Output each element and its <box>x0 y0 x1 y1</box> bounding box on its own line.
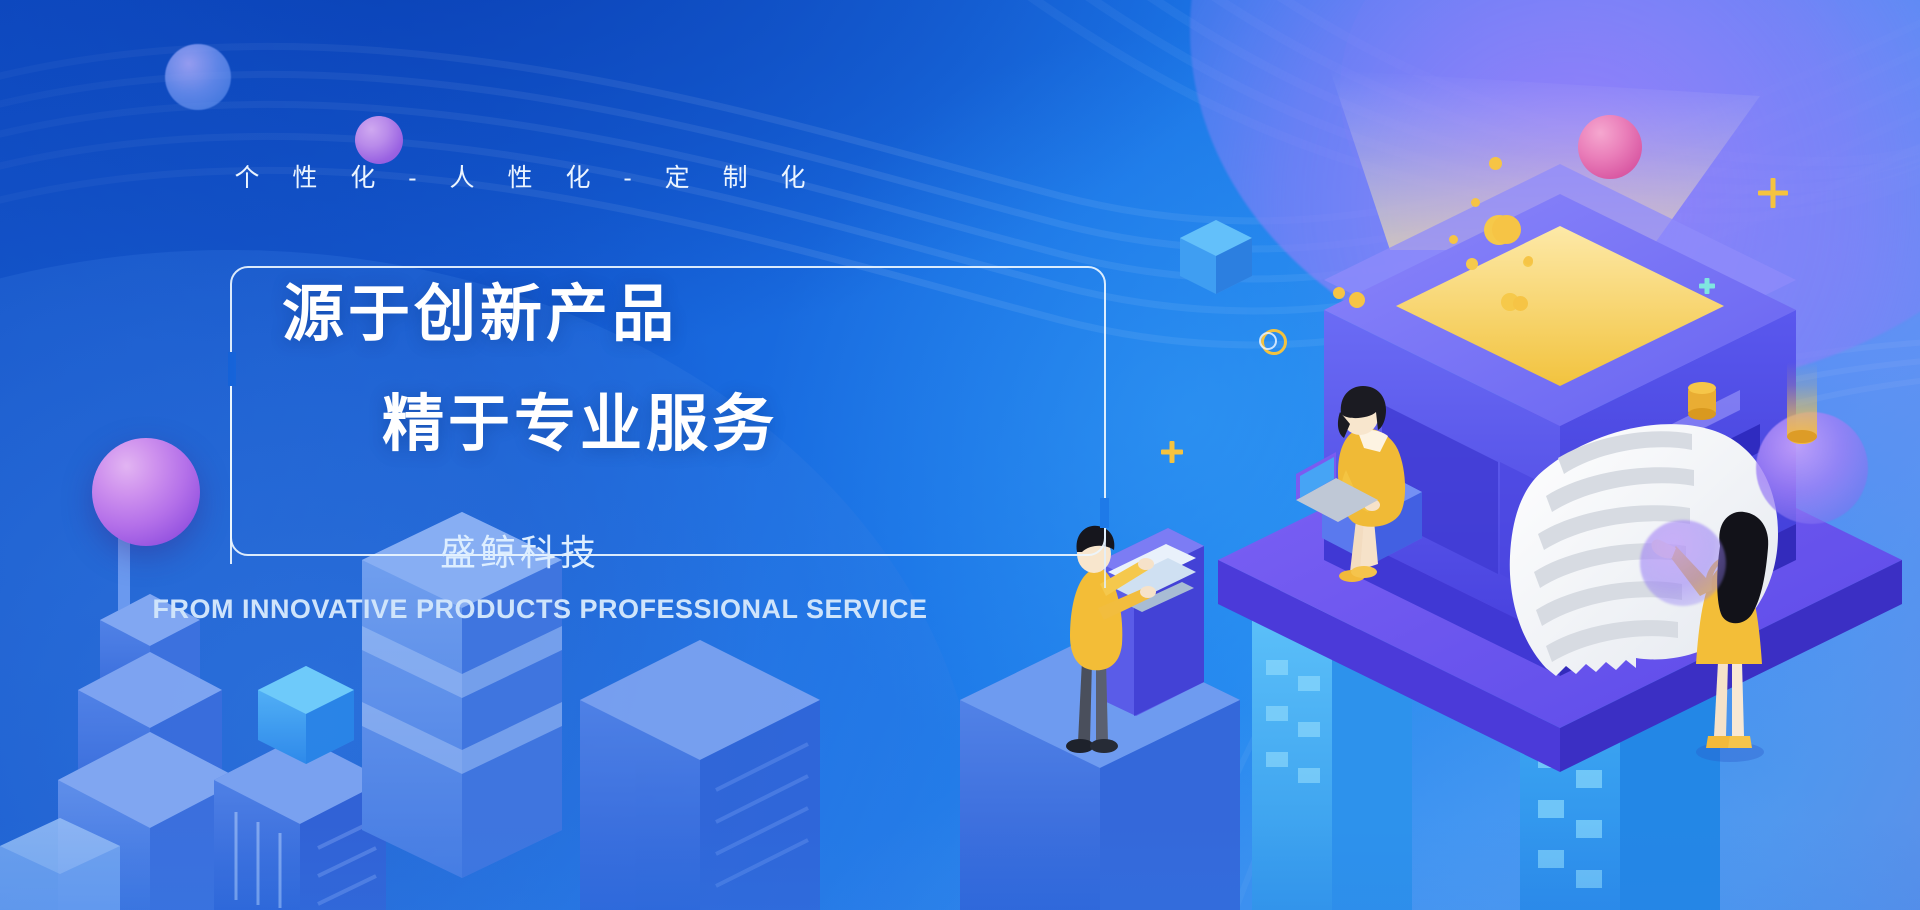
headline-line-1: 源于创新产品 <box>0 284 960 346</box>
headline-frame-gap-right <box>1100 498 1109 528</box>
company-name: 盛鲸科技 <box>0 524 1040 576</box>
headline-frame-gap-left <box>228 352 236 386</box>
banner-copy-block: 个 性 化 - 人 性 化 - 定 制 化 源于创新产品 精于专业服务 盛鲸科技… <box>0 0 1160 910</box>
english-tagline: FROM INNOVATIVE PRODUCTS PROFESSIONAL SE… <box>0 594 1080 625</box>
marketing-banner: 个 性 化 - 人 性 化 - 定 制 化 源于创新产品 精于专业服务 盛鲸科技… <box>0 0 1920 910</box>
headline-frame-tail-right <box>1104 528 1106 588</box>
headline-line-2: 精于专业服务 <box>0 394 1160 456</box>
top-tagline: 个 性 化 - 人 性 化 - 定 制 化 <box>0 158 1040 194</box>
